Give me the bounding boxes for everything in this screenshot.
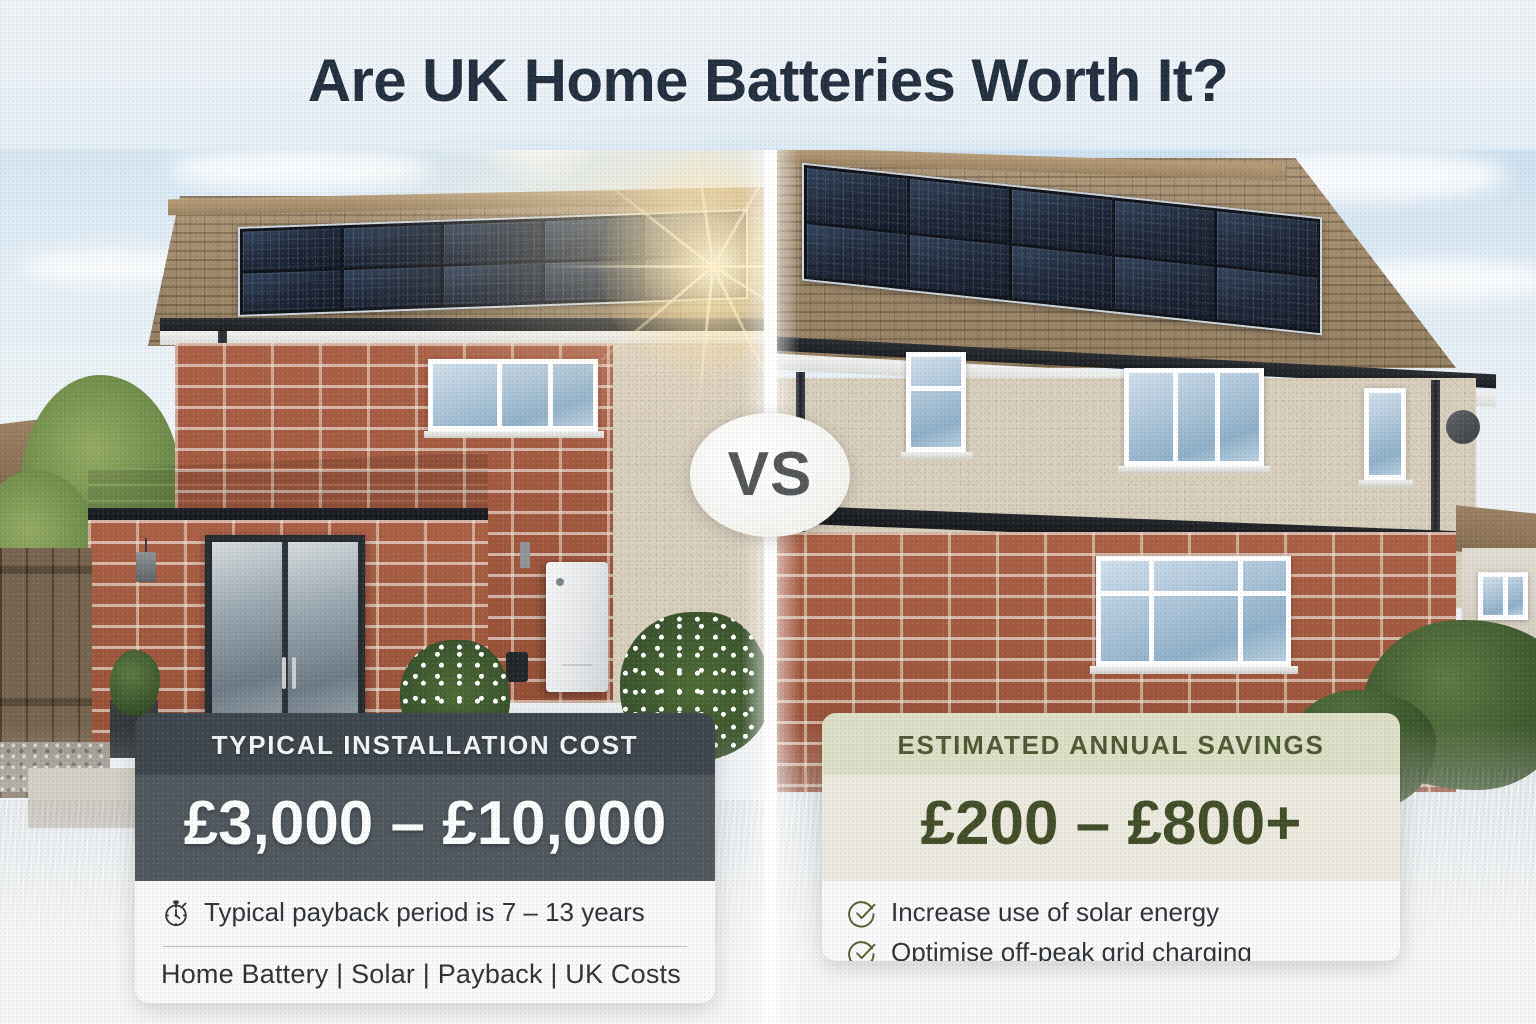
installation-cost-card: TYPICAL INSTALLATION COST £3,000 – £10,0… [135,713,715,1003]
roof-fascia [160,318,770,331]
benefit-label: Increase use of solar energy [891,897,1219,928]
inverter-box [506,652,528,682]
payback-note-row: Typical payback period is 7 – 13 years [161,897,689,928]
topic-tags: Home Battery | Solar | Payback | UK Cost… [161,959,689,990]
lower-window [1096,556,1291,666]
annual-savings-value: £200 – £800+ [822,775,1400,881]
battery-seam [562,664,592,666]
battery-led [556,578,564,586]
window-sill [1118,466,1270,473]
window-sill [1090,666,1298,674]
annual-savings-heading: ESTIMATED ANNUAL SAVINGS [822,713,1400,775]
upper-window-wide [1124,368,1264,466]
vs-badge: VS [690,413,850,537]
upper-window-left [428,359,598,431]
benefit-row: Optimise off-peak grid charging [848,937,1374,961]
vs-label: VS [728,444,813,506]
upper-window-small [906,352,966,452]
wall-conduit [520,542,530,568]
satellite-dish [1446,410,1480,444]
benefit-row: Increase use of solar energy [848,897,1374,928]
window-sill [901,452,973,459]
card-divider-line [163,946,687,947]
installation-cost-footer: Typical payback period is 7 – 13 years H… [135,881,715,1003]
benefit-label: Optimise off-peak grid charging [891,937,1252,961]
annual-savings-card: ESTIMATED ANNUAL SAVINGS £200 – £800+ In… [822,713,1400,961]
infographic-canvas: VS Are UK Home Batteries Worth It? TYPIC… [0,0,1536,1024]
cloud [170,150,430,190]
check-circle-icon [848,898,878,928]
window-sill [424,431,604,438]
payback-note-label: Typical payback period is 7 – 13 years [204,897,645,928]
porch-lantern [136,552,156,582]
stopwatch-icon [161,898,191,928]
upper-window-narrow [1364,388,1406,480]
installation-cost-heading: TYPICAL INSTALLATION COST [135,713,715,775]
topiary-shrub [110,650,160,716]
check-circle-icon [848,938,878,962]
neighbour-window [1478,572,1528,620]
window-sill [1359,480,1413,487]
home-battery-unit [546,562,608,692]
page-title: Are UK Home Batteries Worth It? [0,46,1536,115]
annual-savings-footer: Increase use of solar energy Optimise of… [822,881,1400,961]
installation-cost-value: £3,000 – £10,000 [135,775,715,881]
